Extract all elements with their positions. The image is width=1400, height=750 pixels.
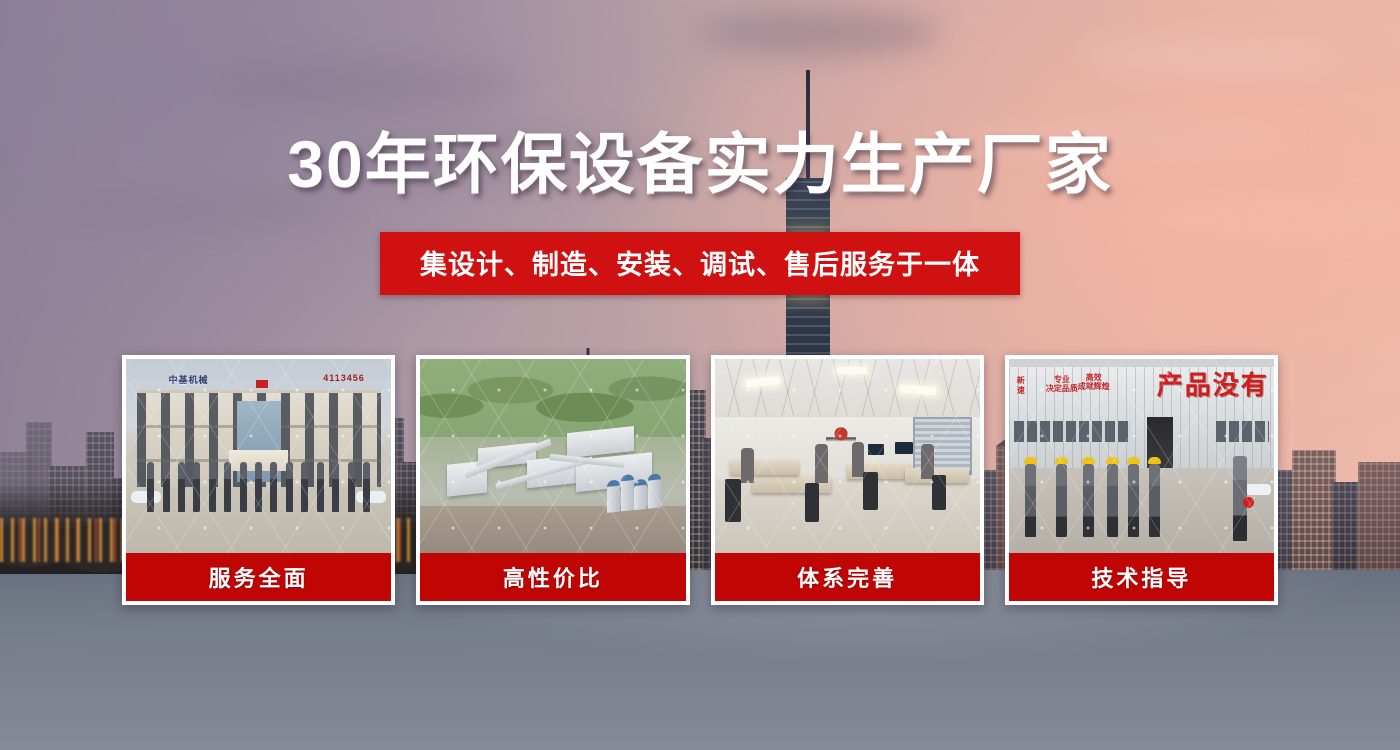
feature-card-list: 中基机械 4113456 服务全面 xyxy=(122,355,1278,605)
supervisor-figure xyxy=(1233,456,1247,541)
cloud-shape xyxy=(700,10,940,56)
cloud-shape xyxy=(220,60,520,110)
banner-stage: 30年环保设备实力生产厂家 集设计、制造、安装、调试、售后服务于一体 中基机械 … xyxy=(0,0,1400,750)
feature-card[interactable]: 产品没有 新速 专业决定品质 高效成就辉煌 技术指导 xyxy=(1005,355,1278,605)
card-photo-plant-aerial xyxy=(420,359,685,553)
card-caption: 高性价比 xyxy=(420,553,685,601)
card-photo-factory-workers: 产品没有 新速 专业决定品质 高效成就辉煌 xyxy=(1009,359,1274,553)
feature-card[interactable]: 高性价比 xyxy=(416,355,689,605)
feature-card[interactable]: 体系完善 xyxy=(711,355,984,605)
building-phone: 4113456 xyxy=(323,373,365,383)
card-photo-office-interior xyxy=(715,359,980,553)
feature-card[interactable]: 中基机械 4113456 服务全面 xyxy=(122,355,395,605)
factory-slogan: 高效成就辉煌 xyxy=(1078,373,1110,391)
card-caption: 体系完善 xyxy=(715,553,980,601)
wall-logo xyxy=(826,425,856,447)
car-shape xyxy=(1245,484,1271,495)
card-caption: 服务全面 xyxy=(126,553,391,601)
factory-slogan: 专业决定品质 xyxy=(1046,375,1078,393)
flag-icon xyxy=(256,380,268,388)
factory-sign: 产品没有 xyxy=(1157,365,1269,402)
subtitle-banner: 集设计、制造、安装、调试、售后服务于一体 xyxy=(380,232,1020,295)
card-photo-headquarters: 中基机械 4113456 xyxy=(126,359,391,553)
page-title: 30年环保设备实力生产厂家 xyxy=(0,128,1400,201)
building-sign: 中基机械 xyxy=(168,373,208,386)
cloud-shape xyxy=(1080,36,1340,80)
factory-slogan: 新速 xyxy=(1017,376,1025,394)
card-caption: 技术指导 xyxy=(1009,553,1274,601)
staff-row xyxy=(147,462,370,512)
